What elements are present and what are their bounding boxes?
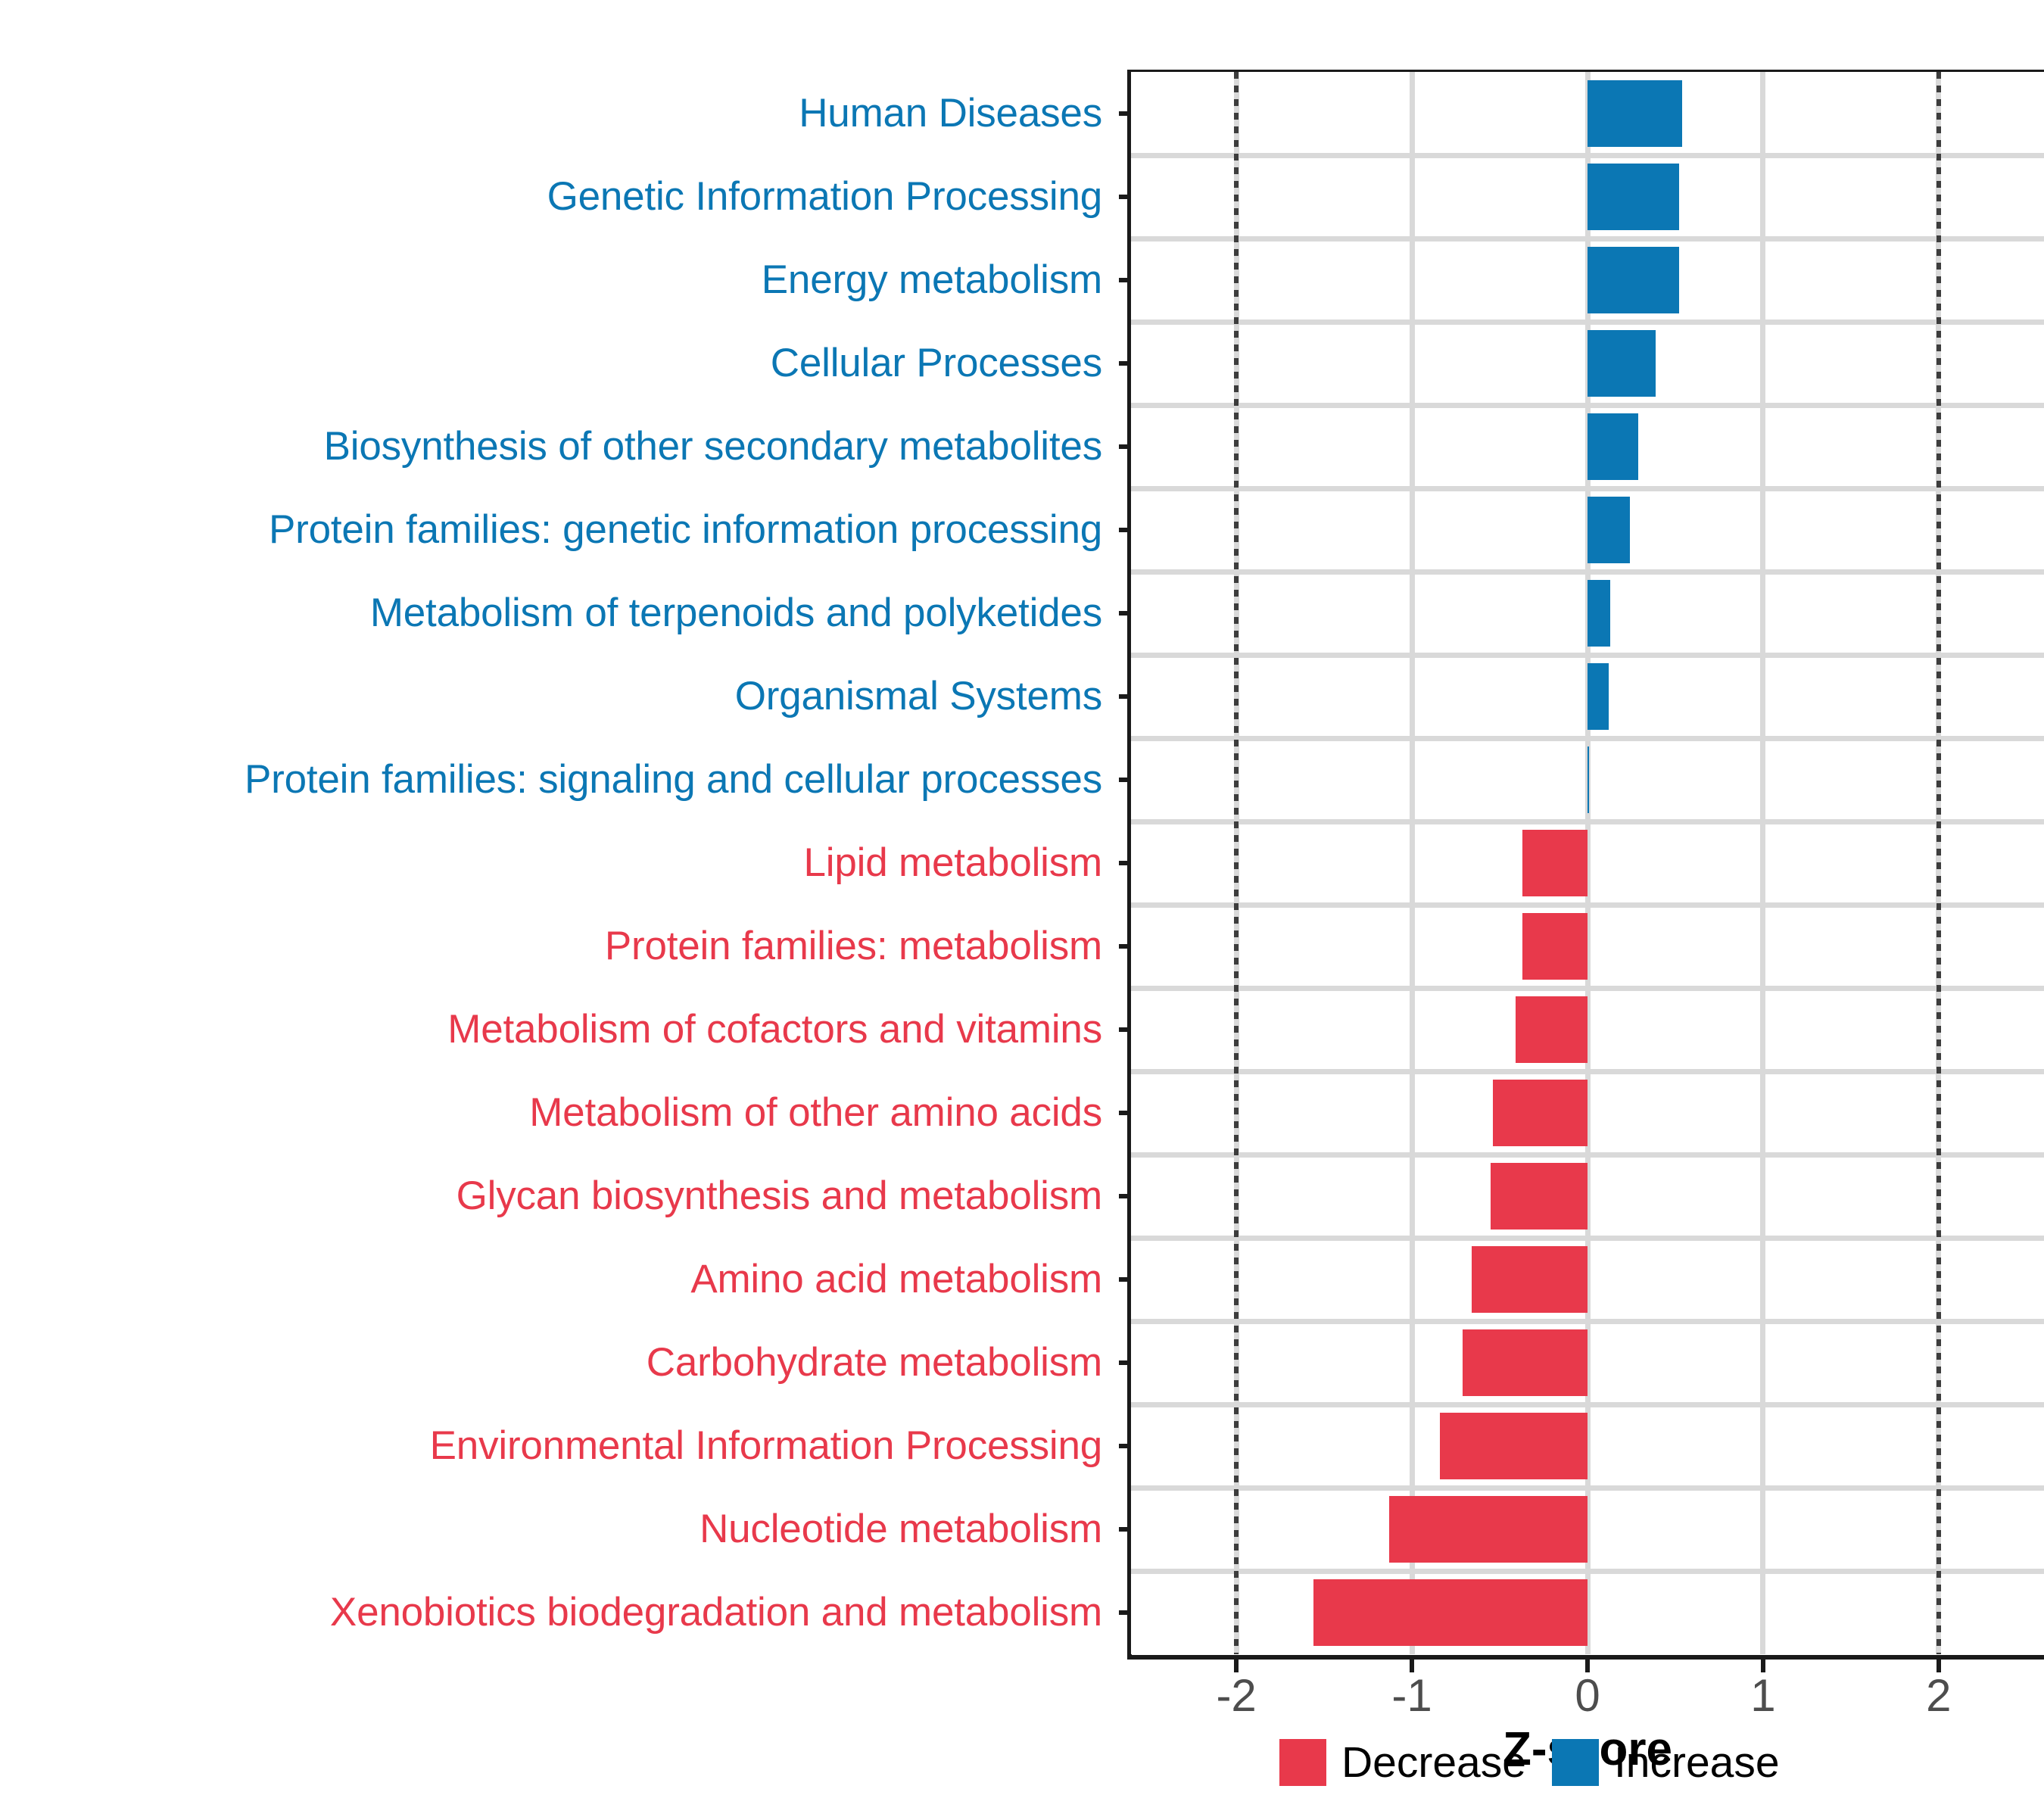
y-axis-label-text: Biosynthesis of other secondary metaboli… [324, 425, 1102, 468]
y-axis-label-text: Energy metabolism [762, 259, 1102, 301]
horizontal-gridline [1131, 319, 2044, 325]
x-tick-label: 1 [1703, 1669, 1824, 1722]
y-axis-label-text: Nucleotide metabolism [700, 1508, 1102, 1551]
horizontal-gridline [1131, 736, 2044, 741]
horizontal-gridline [1131, 986, 2044, 991]
y-axis-label-text: Xenobiotics biodegradation and metabolis… [330, 1591, 1102, 1634]
vertical-gridline [1410, 72, 1415, 1654]
horizontal-gridline [1131, 569, 2044, 575]
bar-human-diseases[interactable] [1588, 80, 1682, 147]
y-axis-label-text: Genetic Information Processing [547, 176, 1102, 218]
y-axis-label-text: Organismal Systems [735, 675, 1102, 718]
bar-carbohydrate-metabolism[interactable] [1463, 1329, 1588, 1396]
bar-xenobiotics-biodegradation-and-metabolism[interactable] [1313, 1579, 1588, 1646]
bar-metabolism-of-terpenoids-and-polyketides[interactable] [1588, 580, 1610, 647]
legend-item-decrease[interactable]: Decrease [1279, 1738, 1526, 1787]
y-axis-label-text: Protein families: genetic information pr… [269, 509, 1102, 551]
x-tick-label: 0 [1527, 1669, 1648, 1722]
horizontal-gridline [1131, 1402, 2044, 1407]
legend-swatch-decrease [1279, 1739, 1326, 1786]
y-axis-label-text: Metabolism of other amino acids [529, 1092, 1102, 1134]
horizontal-gridline [1131, 153, 2044, 158]
horizontal-gridline [1131, 1236, 2044, 1241]
y-axis-label-text: Protein families: signaling and cellular… [245, 759, 1102, 801]
bar-environmental-information-processing[interactable] [1440, 1413, 1588, 1479]
legend-swatch-increase [1552, 1739, 1599, 1786]
horizontal-gridline [1131, 1485, 2044, 1491]
x-tick-label: -2 [1176, 1669, 1297, 1722]
horizontal-gridline [1131, 902, 2044, 908]
y-axis-label-text: Lipid metabolism [804, 842, 1102, 884]
y-axis-label-text: Glycan biosynthesis and metabolism [456, 1175, 1102, 1217]
bar-amino-acid-metabolism[interactable] [1472, 1246, 1588, 1313]
horizontal-gridline [1131, 236, 2044, 242]
y-axis-label-text: Amino acid metabolism [690, 1258, 1102, 1301]
reference-line [1937, 72, 1941, 1654]
bar-organismal-systems[interactable] [1588, 663, 1609, 730]
bar-protein-families-signaling-and-cellular-processes[interactable] [1588, 746, 1589, 813]
x-tick-label: -1 [1351, 1669, 1472, 1722]
vertical-gridline [1760, 72, 1765, 1654]
horizontal-gridline [1131, 403, 2044, 408]
legend-label-increase: Increase [1614, 1738, 1780, 1787]
bar-energy-metabolism[interactable] [1588, 247, 1679, 313]
horizontal-gridline [1131, 1069, 2044, 1074]
reference-line [1234, 72, 1239, 1654]
bar-genetic-information-processing[interactable] [1588, 164, 1679, 230]
y-axis-label-text: Environmental Information Processing [430, 1425, 1102, 1467]
y-axis-label-text: Human Diseases [799, 92, 1102, 135]
legend-item-increase[interactable]: Increase [1552, 1738, 1780, 1787]
bar-protein-families-genetic-information-processing[interactable] [1588, 497, 1630, 563]
bar-glycan-biosynthesis-and-metabolism[interactable] [1491, 1163, 1588, 1230]
horizontal-gridline [1131, 1569, 2044, 1574]
plot-panel [1131, 72, 2044, 1654]
chart-legend: Decrease Increase [1279, 1738, 1780, 1787]
horizontal-gridline [1131, 819, 2044, 824]
bar-lipid-metabolism[interactable] [1522, 830, 1588, 896]
legend-label-decrease: Decrease [1341, 1738, 1526, 1787]
y-axis-label-text: Carbohydrate metabolism [647, 1342, 1102, 1384]
bar-nucleotide-metabolism[interactable] [1389, 1496, 1588, 1563]
y-axis-label-text: Cellular Processes [771, 342, 1102, 385]
y-axis-label-text: Protein families: metabolism [605, 925, 1102, 968]
bar-protein-families-metabolism[interactable] [1522, 913, 1588, 980]
y-axis-category-labels: Human DiseasesGenetic Information Proces… [0, 72, 1120, 1654]
horizontal-gridline [1131, 1152, 2044, 1158]
horizontal-gridline [1131, 1319, 2044, 1324]
bar-biosynthesis-of-other-secondary-metabolites[interactable] [1588, 413, 1638, 480]
y-axis-label-text: Metabolism of terpenoids and polyketides [370, 592, 1102, 634]
bar-cellular-processes[interactable] [1588, 330, 1656, 397]
y-axis-label-text: Metabolism of cofactors and vitamins [447, 1008, 1102, 1051]
x-tick-label: 2 [1878, 1669, 1999, 1722]
horizontal-gridline [1131, 486, 2044, 491]
z-score-bar-chart-figure: Human DiseasesGenetic Information Proces… [0, 0, 2044, 1817]
bar-metabolism-of-other-amino-acids[interactable] [1493, 1080, 1588, 1146]
bar-metabolism-of-cofactors-and-vitamins[interactable] [1516, 996, 1588, 1063]
horizontal-gridline [1131, 653, 2044, 658]
